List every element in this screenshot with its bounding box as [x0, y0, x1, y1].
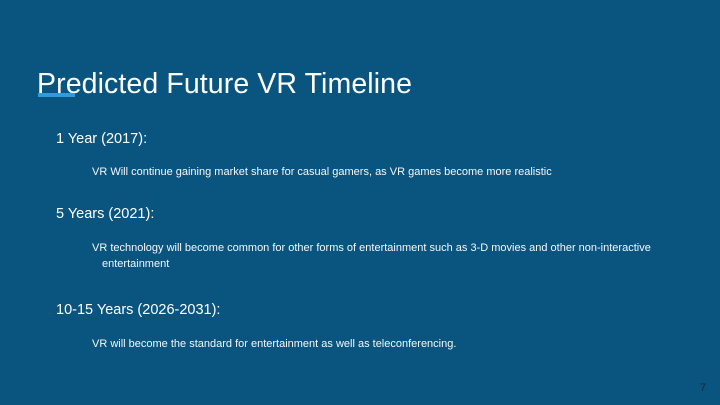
section-detail: VR will become the standard for entertai… — [92, 336, 692, 352]
presentation-slide: Predicted Future VR Timeline 1 Year (201… — [0, 0, 720, 405]
page-number: 7 — [695, 381, 711, 395]
section-heading: 1 Year (2017): — [56, 130, 147, 148]
page-title: Predicted Future VR Timeline — [37, 67, 412, 101]
section-detail: VR technology will become common for oth… — [92, 240, 676, 272]
title-accent-bar — [38, 93, 75, 97]
section-heading: 5 Years (2021): — [56, 205, 154, 223]
section-detail: VR Will continue gaining market share fo… — [92, 164, 692, 180]
section-heading: 10-15 Years (2026-2031): — [56, 301, 220, 319]
